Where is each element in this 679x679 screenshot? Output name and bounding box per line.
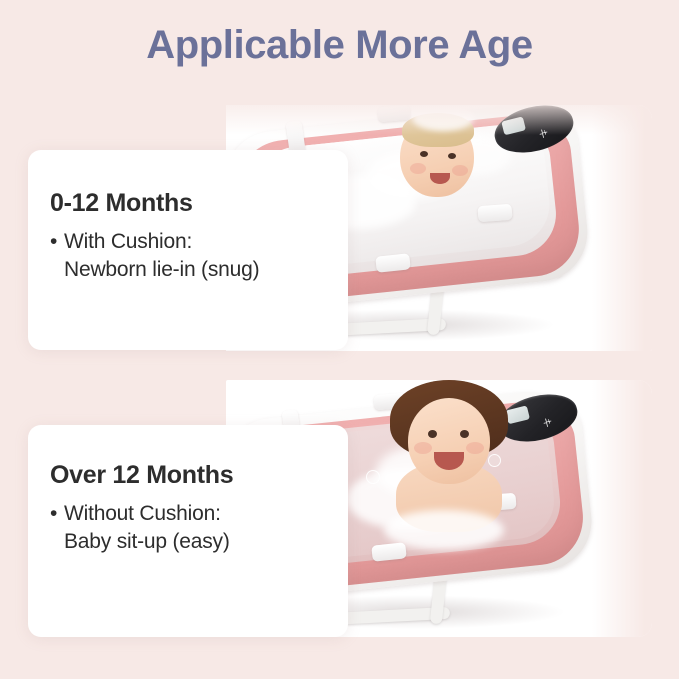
card-heading: Over 12 Months [50, 461, 233, 490]
baby-cheek-left [410, 163, 426, 174]
bullet-marker-icon: • [50, 230, 64, 254]
baby-eye-left [420, 151, 428, 157]
card-heading: 0-12 Months [50, 189, 193, 218]
feature-card-over-12-months: Over 12 Months •Without Cushion: Baby si… [28, 425, 348, 637]
baby-cheek-right [466, 442, 484, 454]
card-bullet-block: •With Cushion: Newborn lie-in (snug) [50, 230, 340, 282]
card-bullet-block: •Without Cushion: Baby sit-up (easy) [50, 502, 340, 554]
card-bullet-line-1: •Without Cushion: [50, 502, 340, 526]
thermometer-button-label[interactable]: -|+ [538, 128, 548, 139]
foam-collar [412, 105, 474, 131]
foam-front [384, 510, 504, 550]
baby-head [408, 398, 490, 484]
baby-eye-right [460, 430, 469, 438]
feature-card-0-12-months: 0-12 Months •With Cushion: Newborn lie-i… [28, 150, 348, 350]
card-bullet-text-1: Without Cushion: [64, 502, 221, 525]
bullet-marker-icon: • [50, 502, 64, 526]
card-bullet-text-2: Baby sit-up (easy) [50, 530, 340, 554]
card-bullet-line-1: •With Cushion: [50, 230, 340, 254]
page-title: Applicable More Age [0, 23, 679, 68]
thermometer-button-label[interactable]: -|+ [542, 417, 552, 428]
product-feature-graphic: Applicable More Age [0, 0, 679, 679]
baby-cheek-left [414, 442, 432, 454]
card-bullet-text-1: With Cushion: [64, 230, 192, 253]
baby-eye-right [448, 153, 456, 159]
baby-cheek-right [452, 165, 468, 176]
baby-eye-left [428, 430, 437, 438]
card-bullet-text-2: Newborn lie-in (snug) [50, 258, 340, 282]
